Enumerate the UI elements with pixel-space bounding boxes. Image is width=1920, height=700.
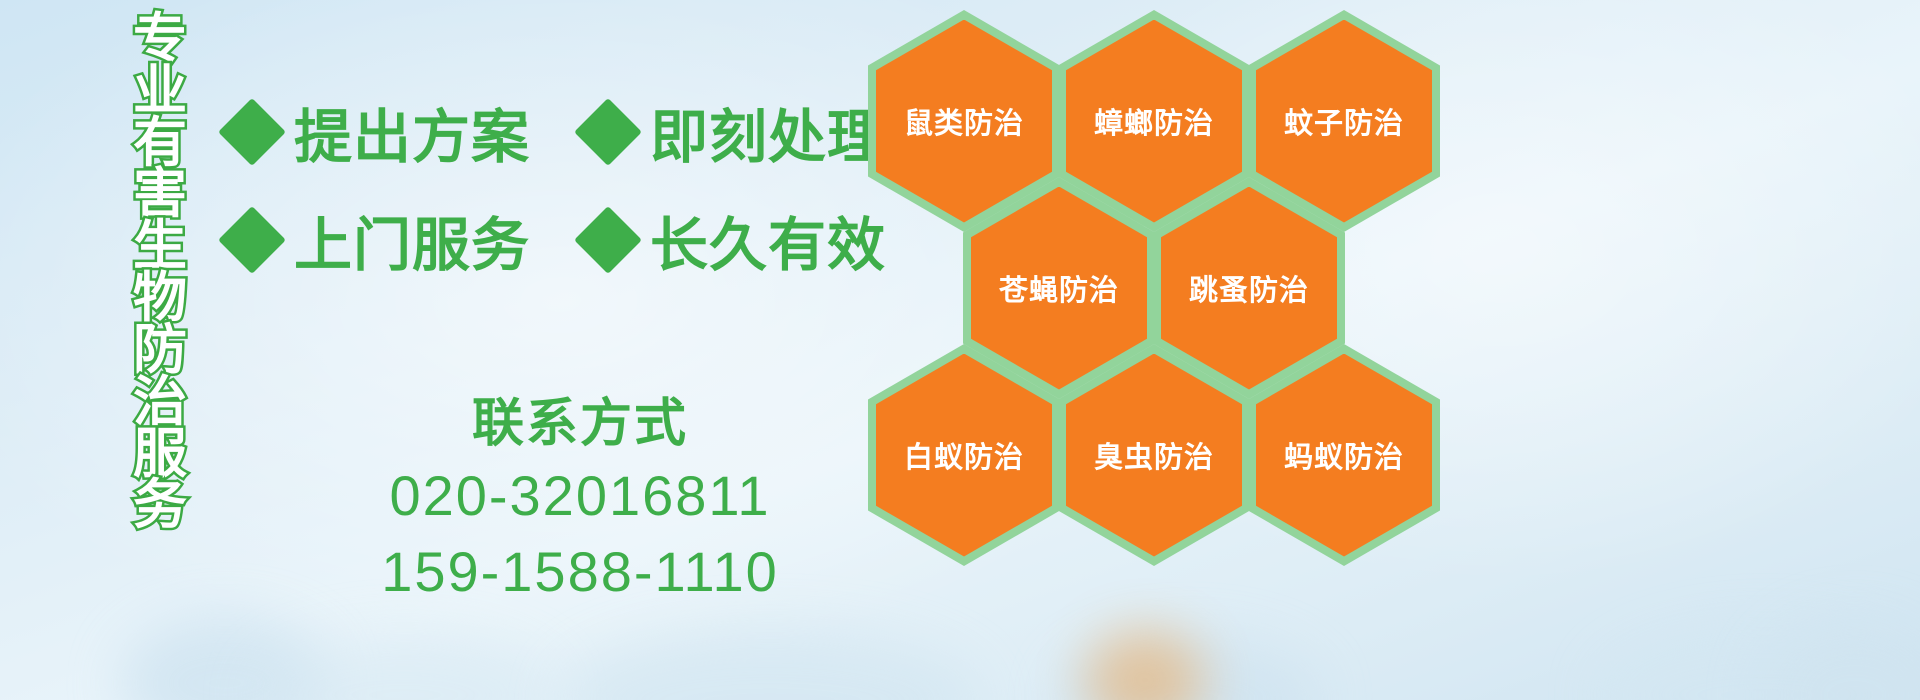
- hex-label: 蟑螂防治: [1094, 100, 1214, 142]
- contact-phone-mobile[interactable]: 159-1588-1110: [300, 537, 860, 607]
- hex-inner: 蚂蚁防治: [1256, 354, 1432, 557]
- hex-label: 蚂蚁防治: [1284, 434, 1404, 476]
- vertical-headline-char: 物: [133, 273, 187, 325]
- hex-label: 苍蝇防治: [999, 267, 1119, 309]
- vertical-headline-char: 有: [133, 118, 187, 170]
- hex-label: 臭虫防治: [1094, 434, 1214, 476]
- feature-label: 即刻处理: [650, 90, 886, 174]
- contact-phone-landline[interactable]: 020-32016811: [300, 461, 860, 531]
- feature-list: 提出方案 即刻处理 上门服务 长久有效: [228, 78, 868, 294]
- hex-inner: 蚊子防治: [1256, 20, 1432, 223]
- vertical-headline-char: 专: [133, 14, 187, 66]
- vertical-headline-char: 业: [133, 66, 187, 118]
- hex-inner: 鼠类防治: [876, 20, 1052, 223]
- vertical-headline-char: 生: [133, 221, 187, 273]
- diamond-bullet-icon: [574, 206, 642, 274]
- contact-block: 联系方式 020-32016811 159-1588-1110: [300, 395, 860, 607]
- hex-inner: 白蚁防治: [876, 354, 1052, 557]
- service-honeycomb: 鼠类防治 蟑螂防治 蚊子防治 苍蝇防治 跳蚤防治 白蚁防治: [860, 0, 1480, 700]
- diamond-bullet-icon: [218, 206, 286, 274]
- vertical-headline-char: 防: [133, 325, 187, 377]
- hex-label: 鼠类防治: [904, 100, 1024, 142]
- contact-heading: 联系方式: [300, 395, 860, 455]
- vertical-headline: 专 业 有 害 生 物 防 治 服 务: [112, 14, 208, 532]
- feature-label: 长久有效: [650, 198, 886, 282]
- vertical-headline-char: 服: [133, 429, 187, 481]
- feature-row: 提出方案 即刻处理: [228, 78, 868, 186]
- hex-inner: 跳蚤防治: [1161, 187, 1337, 390]
- hex-label: 蚊子防治: [1284, 100, 1404, 142]
- feature-row: 上门服务 长久有效: [228, 186, 868, 294]
- diamond-bullet-icon: [218, 98, 286, 166]
- vertical-headline-char: 治: [133, 377, 187, 429]
- diamond-bullet-icon: [574, 98, 642, 166]
- vertical-headline-char: 害: [133, 169, 187, 221]
- vertical-headline-char: 务: [133, 480, 187, 532]
- hex-inner: 蟑螂防治: [1066, 20, 1242, 223]
- hex-label: 跳蚤防治: [1189, 267, 1309, 309]
- feature-label: 提出方案: [294, 90, 530, 174]
- hex-inner: 苍蝇防治: [971, 187, 1147, 390]
- promotional-banner: 专 业 有 害 生 物 防 治 服 务 提出方案 即刻处理 上门服务 长久有效 …: [0, 0, 1920, 700]
- hex-inner: 臭虫防治: [1066, 354, 1242, 557]
- feature-label: 上门服务: [294, 198, 530, 282]
- hex-label: 白蚁防治: [904, 434, 1024, 476]
